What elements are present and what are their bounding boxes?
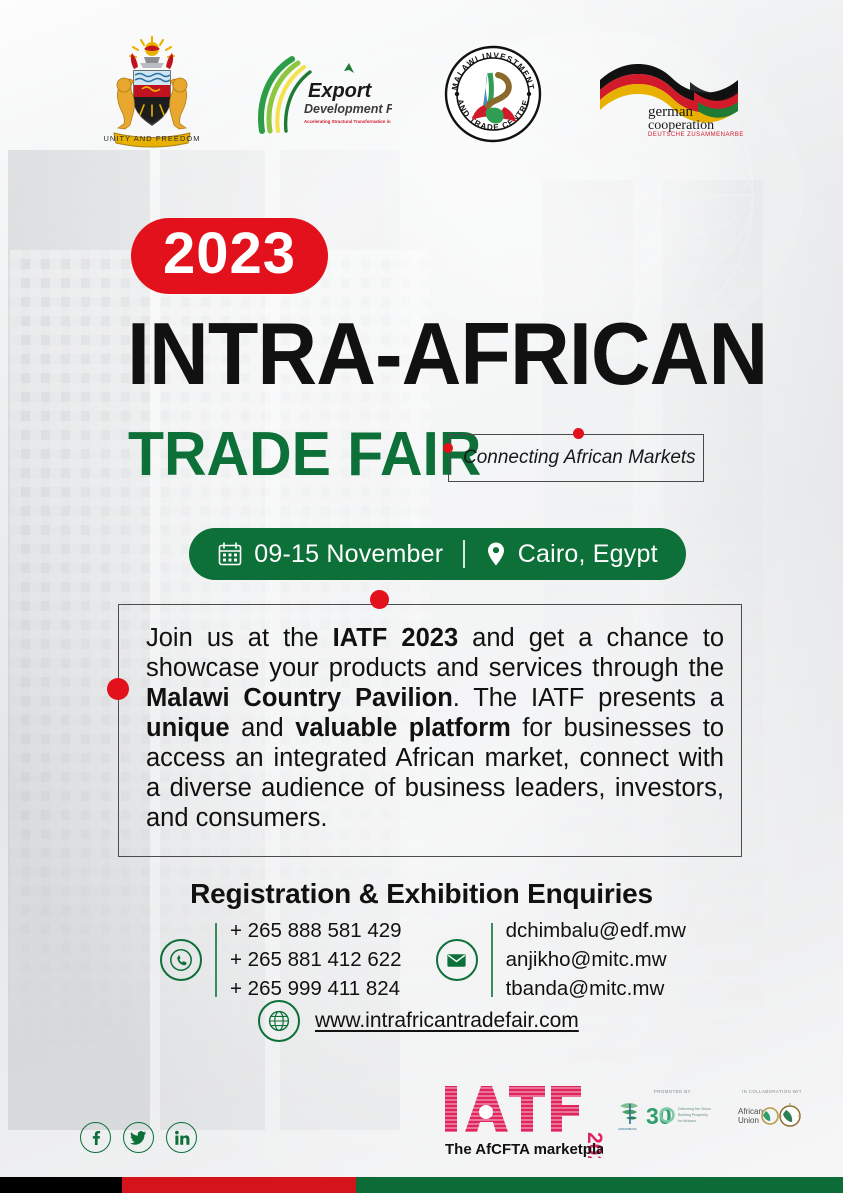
email-item[interactable]: dchimbalu@edf.mw (506, 918, 686, 944)
website-url[interactable]: www.intrafricantradefair.com (315, 1009, 579, 1033)
email-item[interactable]: tbanda@mitc.mw (506, 976, 686, 1002)
website-row[interactable]: www.intrafricantradefair.com (258, 1000, 579, 1042)
tagline-box: Connecting African Markets (448, 434, 704, 482)
malawi-coat-of-arms-logo: UNITY AND FREEDOM (100, 35, 204, 158)
edf-word-fund: Development Fund (304, 102, 392, 116)
linkedin-icon[interactable] (166, 1122, 197, 1153)
tagline-dot-top (573, 428, 584, 439)
calendar-icon (217, 541, 243, 567)
svg-text:30: 30 (646, 1103, 672, 1129)
location-pin-icon (485, 541, 507, 567)
african-union-logo: African Union (738, 1107, 778, 1125)
mitc-logo: MALAWI INVESTMENT AND TRADE CENTRE (444, 45, 542, 148)
svg-text:for Africans: for Africans (678, 1119, 696, 1123)
date-segment: 09-15 November (197, 540, 463, 569)
stripe-red (122, 1177, 356, 1193)
social-links (80, 1122, 197, 1153)
date-text: 09-15 November (254, 540, 443, 569)
german-cooperation-logo: german cooperation DEUTSCHE ZUSAMMENARBE… (594, 52, 744, 141)
globe-icon (258, 1000, 300, 1042)
phone-item[interactable]: + 265 999 411 824 (230, 976, 402, 1002)
iatf-logo: 2023 The AfCFTA marketplace (443, 1082, 603, 1158)
edf-word-export: Export (308, 80, 373, 102)
phone-icon (160, 939, 202, 981)
body-box-dot-left (107, 678, 129, 700)
afcfta-logo (779, 1103, 801, 1126)
svg-text:Union: Union (738, 1116, 759, 1125)
poster-canvas: UNITY AND FREEDOM Export Development Fun… (0, 0, 843, 1193)
coat-of-arms-motto: UNITY AND FREEDOM (103, 134, 200, 143)
phone-divider (215, 923, 217, 997)
body-box-dot-top (370, 590, 389, 609)
phone-item[interactable]: + 265 888 581 429 (230, 918, 402, 944)
email-item[interactable]: anjikho@mitc.mw (506, 947, 686, 973)
email-group: dchimbalu@edf.mw anjikho@mitc.mw tbanda@… (436, 918, 686, 1003)
gc-line3: DEUTSCHE ZUSAMMENARBEIT (648, 132, 744, 136)
30-years-logo: 30 Delivering the Vision Building Prospe… (646, 1103, 711, 1129)
footer-flag-stripe (0, 1177, 843, 1193)
stripe-green (356, 1177, 843, 1193)
location-text: Cairo, Egypt (518, 540, 658, 569)
svg-text:Building Prosperity: Building Prosperity (678, 1113, 708, 1117)
phone-group: + 265 888 581 429 + 265 881 412 622 + 26… (160, 918, 402, 1003)
export-development-fund-logo: Export Development Fund Accelerating Str… (256, 53, 392, 140)
afreximbank-logo: AFREXIMBANK (618, 1103, 638, 1131)
year-badge-text: 2023 (163, 225, 296, 283)
year-badge: 2023 (131, 218, 328, 294)
facebook-icon[interactable] (80, 1122, 111, 1153)
tagline-dot-left (443, 443, 453, 453)
tagline-text: Connecting African Markets (463, 447, 696, 469)
gc-line2: cooperation (648, 118, 714, 133)
body-copy-text: Join us at the IATF 2023 and get a chanc… (146, 624, 724, 834)
envelope-icon (436, 939, 478, 981)
svg-text:African: African (738, 1107, 763, 1116)
contact-grid: + 265 888 581 429 + 265 881 412 622 + 26… (160, 918, 700, 998)
page-title-line1: INTRA-AFRICAN (127, 312, 767, 396)
contact-heading: Registration & Exhibition Enquiries (0, 878, 843, 910)
page-title-line2: TRADE FAIR (128, 424, 481, 486)
svg-text:Delivering the Vision: Delivering the Vision (678, 1107, 711, 1111)
twitter-icon[interactable] (123, 1122, 154, 1153)
svg-text:AFREXIMBANK: AFREXIMBANK (618, 1127, 637, 1131)
phone-item[interactable]: + 265 881 412 622 (230, 947, 402, 973)
edf-tagline: Accelerating Structural Transformation i… (304, 119, 392, 124)
iatf-tagline: The AfCFTA marketplace (445, 1141, 603, 1158)
promoted-by-label: PROMOTED BY (654, 1089, 691, 1094)
email-divider (491, 923, 493, 997)
phone-list: + 265 888 581 429 + 265 881 412 622 + 26… (230, 918, 402, 1003)
email-list: dchimbalu@edf.mw anjikho@mitc.mw tbanda@… (506, 918, 686, 1003)
stripe-black (0, 1177, 122, 1193)
date-location-bar: 09-15 November Cairo, Egypt (189, 528, 686, 580)
location-segment: Cairo, Egypt (465, 540, 678, 569)
sponsor-logo-row: UNITY AND FREEDOM Export Development Fun… (0, 34, 843, 158)
collaboration-label: IN COLLABORATION WITH (742, 1089, 802, 1094)
partner-logos: PROMOTED BY IN COLLABORATION WITH AFREXI… (612, 1084, 802, 1150)
